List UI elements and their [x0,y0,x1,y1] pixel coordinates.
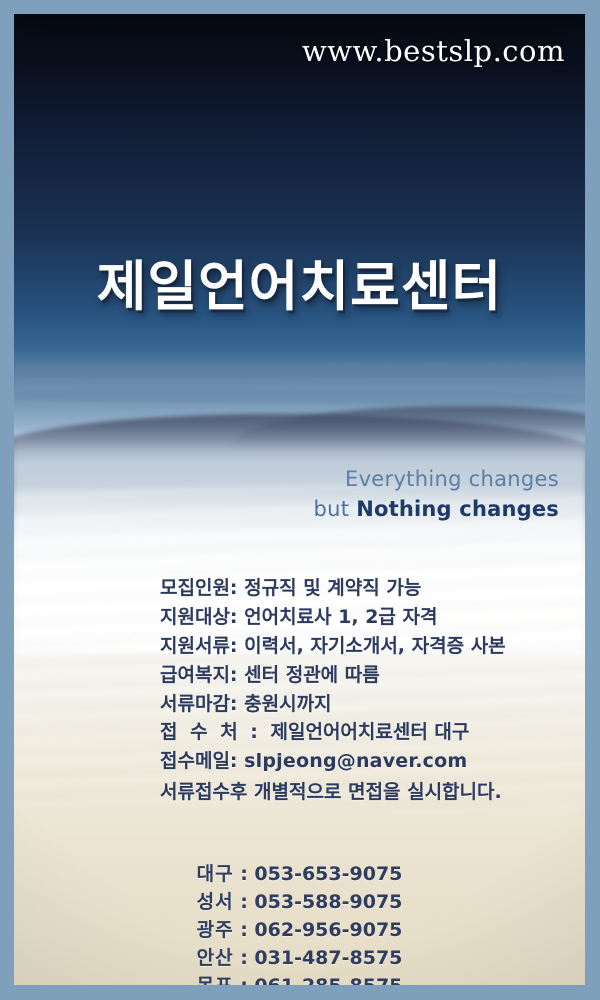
detail-line-contact-place: 접 수 처 : 제일언어어치료센터 대구 [160,718,506,747]
phone-separator: : [234,863,255,885]
center-name-title: 제일언어치료센터 [14,242,585,321]
detail-line-eligibility: 지원대상: 언어치료사 1, 2급 자격 [160,603,506,632]
detail-line-deadline: 서류마감: 충원시까지 [160,690,506,719]
tagline-but-word: but [313,497,356,521]
branch-city-mokpo: 목포 [197,975,234,985]
phone-row-gwangju: 광주 : 062-956-9075 [14,916,585,944]
phone-row-mokpo: 목포 : 061-285-8575 [14,972,585,985]
branch-city-gwangju: 광주 [197,919,234,941]
phone-row-daegu: 대구 : 053-653-9075 [14,860,585,888]
phone-number-mokpo[interactable]: 061-285-8575 [254,975,402,985]
detail-line-documents: 지원서류: 이력서, 자기소개서, 자격증 사본 [160,632,506,661]
phone-number-gwangju[interactable]: 062-956-9075 [254,919,402,941]
contact-place-value: 제일언어어치료센터 대구 [271,721,470,743]
email-label: 접수메일: [160,750,244,772]
tagline-line-2: but Nothing changes [313,496,559,524]
detail-line-headcount: 모집인원: 정규직 및 계약직 가능 [160,574,506,603]
branch-city-daegu: 대구 [197,863,234,885]
english-tagline: Everything changes but Nothing changes [313,466,559,523]
phone-separator: : [234,947,255,969]
phone-row-ansan: 안산 : 031-487-8575 [14,944,585,972]
contact-place-label: 접 수 처 : [160,721,271,743]
detail-line-closing-note: 서류접수후 개별적으로 면접을 실시합니다. [160,778,506,807]
email-address[interactable]: slpjeong@naver.com [244,750,467,772]
phone-separator: : [234,891,255,913]
phone-separator: : [234,919,255,941]
background-photo: www.bestslp.com 제일언어치료센터 Everything chan… [14,14,585,985]
phone-number-daegu[interactable]: 053-653-9075 [254,863,402,885]
tagline-nothing-phrase: Nothing changes [356,497,559,521]
phone-number-ansan[interactable]: 031-487-8575 [254,947,402,969]
branch-phone-list: 대구 : 053-653-9075 성서 : 053-588-9075 광주 :… [14,860,585,985]
phone-number-seongseo[interactable]: 053-588-9075 [254,891,402,913]
phone-row-seongseo: 성서 : 053-588-9075 [14,888,585,916]
phone-separator: : [234,975,255,985]
tagline-line-1: Everything changes [345,467,559,491]
branch-city-seongseo: 성서 [197,891,234,913]
branch-city-ansan: 안산 [197,947,234,969]
website-url[interactable]: www.bestslp.com [302,34,565,68]
detail-line-email: 접수메일: slpjeong@naver.com [160,747,506,776]
detail-line-salary: 급여복지: 센터 정관에 따름 [160,661,506,690]
recruitment-poster: www.bestslp.com 제일언어치료센터 Everything chan… [0,0,600,1000]
job-details-block: 모집인원: 정규직 및 계약직 가능 지원대상: 언어치료사 1, 2급 자격 … [160,574,506,807]
